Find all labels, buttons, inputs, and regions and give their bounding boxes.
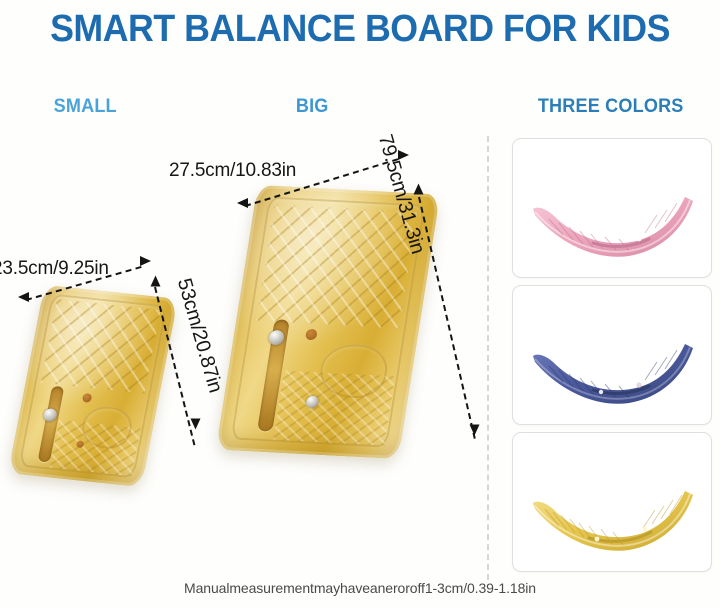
section-heading-three-colors: THREE COLORS [538, 96, 684, 118]
yellow-balance-board-image [527, 459, 699, 555]
big-length-arrow-end [470, 425, 480, 436]
section-heading-big: BIG [296, 96, 329, 118]
color-card-yellow[interactable] [512, 432, 712, 572]
small-width-arrow-start [18, 292, 29, 302]
pink-balance-board-image [527, 165, 699, 261]
blue-balance-board-image [527, 312, 699, 408]
section-divider [487, 136, 489, 580]
big-length-dimension-line [418, 197, 476, 439]
color-card-pink[interactable] [512, 138, 712, 278]
page-title: SMART BALANCE BOARD FOR KIDS [22, 8, 699, 51]
big-board-stage: 27.5cm/10.83in 79.5cm/31.3in [215, 160, 485, 490]
small-width-label: 23.5cm/9.25in [0, 258, 109, 280]
big-width-label: 27.5cm/10.83in [169, 160, 296, 182]
three-colors-panel [512, 138, 712, 579]
big-width-arrow-start [237, 198, 248, 208]
small-width-arrow-end [140, 256, 151, 266]
small-length-arrow-end [191, 419, 201, 430]
measurement-disclaimer: Manualmeasurementmayhaveaneroroff1-3cm/0… [0, 580, 720, 596]
small-board-stage: 23.5cm/9.25in 53cm/20.87in [0, 236, 250, 526]
diamond-grip-texture [40, 299, 160, 393]
big-length-arrow-start [414, 184, 424, 195]
small-length-arrow-start [151, 276, 161, 287]
section-heading-small: SMALL [54, 96, 117, 118]
color-card-blue[interactable] [512, 285, 712, 425]
small-balance-board-image [8, 285, 178, 488]
diamond-grip-texture [256, 204, 417, 328]
